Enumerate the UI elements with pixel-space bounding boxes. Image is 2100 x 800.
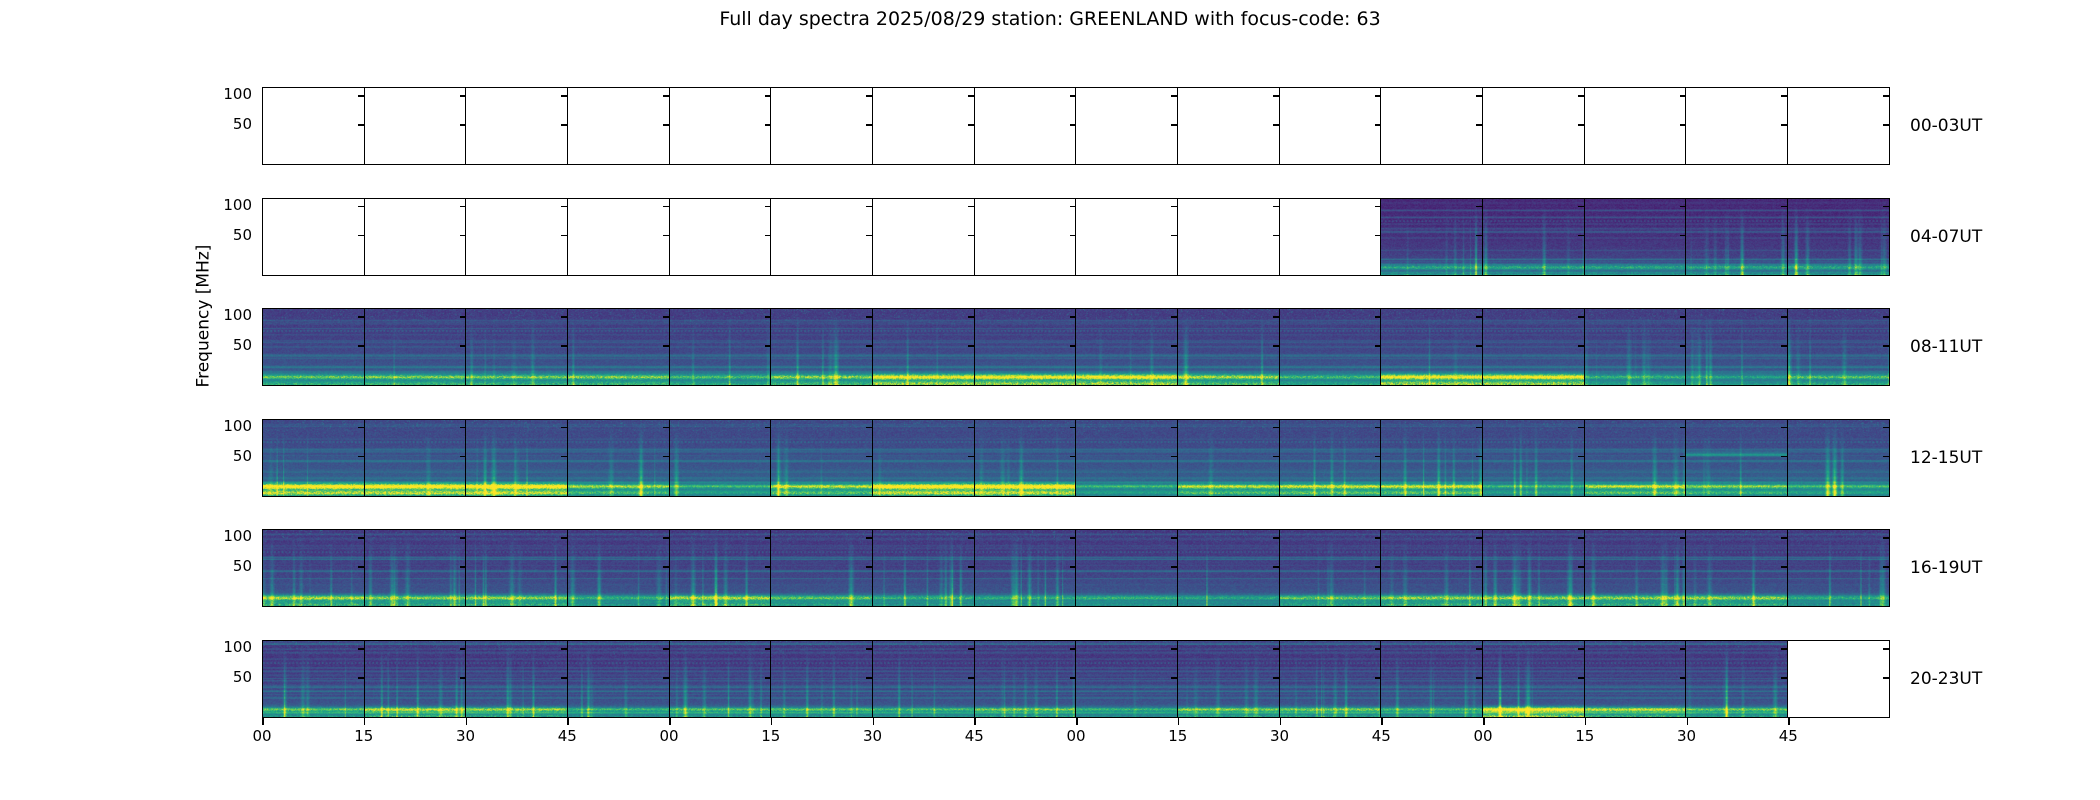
spectrogram-panel[interactable]: [1482, 308, 1585, 386]
spectrogram-panel[interactable]: [770, 198, 873, 276]
spectrogram-panel[interactable]: [1279, 419, 1382, 497]
spectrogram-image: [1381, 309, 1482, 385]
spectrogram-image: [1076, 530, 1177, 606]
y-tick-mark: [1883, 456, 1890, 458]
row-time-label: 04-07UT: [1910, 227, 1982, 247]
spectrogram-panel[interactable]: [465, 198, 568, 276]
spectrogram-panel[interactable]: [262, 198, 365, 276]
spectrogram-image: [1585, 530, 1686, 606]
spectrogram-panel[interactable]: [465, 87, 568, 165]
spectrogram-panel[interactable]: [364, 308, 467, 386]
y-tick-mark: [262, 235, 263, 237]
spectrogram-panel[interactable]: [1787, 640, 1890, 718]
spectrogram-panel[interactable]: [1482, 529, 1585, 607]
spectrogram-panel[interactable]: [669, 419, 772, 497]
spectrogram-panel[interactable]: [1584, 640, 1687, 718]
y-tick-mark: [1883, 206, 1890, 208]
y-tick-label: 100: [223, 527, 252, 545]
spectrogram-image: [1483, 199, 1584, 275]
x-tick-mark: [364, 718, 366, 725]
y-tick-mark: [262, 677, 263, 679]
spectrogram-panel[interactable]: [364, 529, 467, 607]
spectrogram-panel[interactable]: [974, 308, 1077, 386]
spectrogram-image: [1381, 199, 1482, 275]
x-tick-mark: [974, 718, 976, 725]
spectrogram-panel[interactable]: [567, 419, 670, 497]
spectrogram-image: [568, 641, 669, 717]
spectrogram-image: [1585, 420, 1686, 496]
y-tick-mark: [1883, 566, 1890, 568]
spectrogram-panel[interactable]: [1482, 640, 1585, 718]
spectrogram-panel[interactable]: [1380, 640, 1483, 718]
spectrogram-image: [1178, 641, 1279, 717]
x-tick-mark: [1178, 718, 1180, 725]
y-tick-labels: 10050: [192, 308, 252, 386]
spectrogram-image: [1483, 641, 1584, 717]
spectrogram-panel[interactable]: [669, 198, 772, 276]
spectrogram-panel[interactable]: [364, 198, 467, 276]
spectrogram-panel[interactable]: [262, 308, 365, 386]
spectrogram-panel[interactable]: [1075, 419, 1178, 497]
y-tick-mark: [262, 427, 263, 429]
spectrogram-row: [262, 198, 1890, 276]
spectrogram-image: [1483, 420, 1584, 496]
y-tick-mark: [1883, 537, 1890, 539]
spectrogram-panel[interactable]: [465, 529, 568, 607]
spectrogram-panel[interactable]: [1482, 198, 1585, 276]
x-tick-mark: [1585, 718, 1587, 725]
spectrogram-image: [1483, 530, 1584, 606]
row-time-label: 08-11UT: [1910, 337, 1982, 357]
spectrogram-panel[interactable]: [1685, 87, 1788, 165]
spectrogram-panel[interactable]: [1075, 198, 1178, 276]
spectrogram-panel[interactable]: [1177, 87, 1280, 165]
spectrogram-image: [873, 309, 974, 385]
y-tick-labels: 10050: [192, 640, 252, 718]
y-tick-label: 50: [233, 668, 252, 686]
spectrogram-panel[interactable]: [1380, 419, 1483, 497]
spectrogram-panel[interactable]: [262, 87, 365, 165]
spectrogram-panel[interactable]: [567, 198, 670, 276]
spectrogram-image: [1076, 420, 1177, 496]
spectrogram-image: [263, 530, 364, 606]
spectrogram-panel[interactable]: [262, 529, 365, 607]
spectrogram-panel[interactable]: [1584, 87, 1687, 165]
spectrogram-image: [1381, 530, 1482, 606]
y-tick-mark: [262, 345, 263, 347]
spectrogram-panel[interactable]: [872, 308, 975, 386]
spectrogram-panel[interactable]: [567, 87, 670, 165]
spectrogram-image: [1483, 309, 1584, 385]
spectrogram-image: [1585, 199, 1686, 275]
x-tick-mark: [1280, 718, 1282, 725]
x-tick-label: 15: [1575, 727, 1594, 745]
spectrogram-panel[interactable]: [364, 87, 467, 165]
spectrogram-panel[interactable]: [1584, 529, 1687, 607]
spectrogram-panel[interactable]: [974, 640, 1077, 718]
spectrogram-panel[interactable]: [872, 87, 975, 165]
x-tick-label: 15: [354, 727, 373, 745]
y-tick-labels: 10050: [192, 529, 252, 607]
y-tick-mark: [262, 566, 263, 568]
spectrogram-panel[interactable]: [1685, 640, 1788, 718]
spectrogram-panel[interactable]: [465, 640, 568, 718]
spectrogram-row: [262, 640, 1890, 718]
y-tick-mark: [1883, 124, 1890, 126]
spectrogram-image: [1381, 420, 1482, 496]
spectrogram-panel[interactable]: [262, 419, 365, 497]
y-tick-labels: 10050: [192, 87, 252, 165]
y-tick-label: 50: [233, 226, 252, 244]
spectrogram-image: [771, 309, 872, 385]
x-tick-label: 45: [558, 727, 577, 745]
spectrogram-panel[interactable]: [567, 640, 670, 718]
spectrogram-image: [670, 641, 771, 717]
x-tick-label: 45: [1372, 727, 1391, 745]
spectrogram-panel[interactable]: [1177, 198, 1280, 276]
spectrogram-panel[interactable]: [1380, 308, 1483, 386]
spectrogram-image: [1076, 641, 1177, 717]
spectrogram-image: [365, 641, 466, 717]
y-tick-mark: [262, 316, 263, 318]
spectrogram-image: [873, 641, 974, 717]
spectrogram-image: [568, 309, 669, 385]
spectrogram-image: [466, 420, 567, 496]
spectrogram-panel[interactable]: [1482, 87, 1585, 165]
spectrogram-image: [670, 309, 771, 385]
spectrogram-image: [1686, 420, 1787, 496]
x-tick-label: 00: [659, 727, 678, 745]
x-tick-label: 15: [1168, 727, 1187, 745]
spectrogram-panel[interactable]: [1380, 198, 1483, 276]
spectrogram-image: [1585, 309, 1686, 385]
spectrogram-panel[interactable]: [1584, 198, 1687, 276]
x-axis: 00153045001530450015304500153045: [262, 718, 1890, 758]
y-tick-label: 50: [233, 447, 252, 465]
spectrogram-panel[interactable]: [1787, 87, 1890, 165]
y-tick-mark: [1883, 677, 1890, 679]
x-tick-mark: [669, 718, 671, 725]
spectrogram-panel[interactable]: [465, 308, 568, 386]
spectrogram-panel[interactable]: [364, 640, 467, 718]
spectrogram-image: [365, 420, 466, 496]
spectrogram-panel[interactable]: [1787, 529, 1890, 607]
spectrogram-panel[interactable]: [1787, 308, 1890, 386]
y-tick-label: 100: [223, 196, 252, 214]
row-time-label: 16-19UT: [1910, 558, 1982, 578]
spectrogram-panel[interactable]: [1177, 529, 1280, 607]
spectrogram-image: [365, 530, 466, 606]
spectrogram-panel[interactable]: [1279, 308, 1382, 386]
spectrogram-image: [1788, 199, 1889, 275]
spectrogram-panel[interactable]: [1279, 529, 1382, 607]
x-tick-mark: [466, 718, 468, 725]
x-tick-mark: [873, 718, 875, 725]
x-tick-mark: [262, 718, 264, 725]
row-time-label: 12-15UT: [1910, 448, 1982, 468]
spectrogram-image: [1585, 641, 1686, 717]
spectrogram-image: [1686, 199, 1787, 275]
y-tick-labels: 10050: [192, 198, 252, 276]
spectrogram-image: [365, 309, 466, 385]
spectrogram-panel[interactable]: [1075, 640, 1178, 718]
spectrogram-image: [1381, 641, 1482, 717]
spectrogram-panel[interactable]: [770, 529, 873, 607]
x-tick-label: 30: [456, 727, 475, 745]
spectrogram-panel[interactable]: [1075, 87, 1178, 165]
spectrogram-panel[interactable]: [465, 419, 568, 497]
y-tick-mark: [262, 95, 263, 97]
spectrogram-panel[interactable]: [770, 640, 873, 718]
x-tick-mark: [1381, 718, 1383, 725]
y-tick-label: 50: [233, 336, 252, 354]
spectrogram-image: [1686, 309, 1787, 385]
x-tick-mark: [1483, 718, 1485, 725]
spectrogram-image: [873, 530, 974, 606]
spectrogram-panel[interactable]: [974, 529, 1077, 607]
spectrogram-image: [1788, 309, 1889, 385]
page-title: Full day spectra 2025/08/29 station: GRE…: [0, 8, 2100, 30]
spectrogram-image: [568, 530, 669, 606]
spectrogram-image: [1178, 530, 1279, 606]
spectrogram-image: [1280, 641, 1381, 717]
spectrogram-panel[interactable]: [1685, 308, 1788, 386]
spectrogram-panel[interactable]: [669, 529, 772, 607]
spectrogram-panel[interactable]: [872, 529, 975, 607]
spectrogram-image: [1280, 309, 1381, 385]
spectrogram-panel[interactable]: [1685, 419, 1788, 497]
y-tick-mark: [1883, 235, 1890, 237]
spectrogram-panel[interactable]: [1177, 419, 1280, 497]
spectrogram-panel[interactable]: [1279, 198, 1382, 276]
y-tick-label: 50: [233, 115, 252, 133]
spectrogram-panel[interactable]: [974, 198, 1077, 276]
spectrogram-image: [1178, 420, 1279, 496]
x-tick-label: 45: [1779, 727, 1798, 745]
y-tick-label: 100: [223, 417, 252, 435]
x-tick-label: 30: [1677, 727, 1696, 745]
spectrogram-panel[interactable]: [1279, 640, 1382, 718]
spectrogram-panel[interactable]: [669, 640, 772, 718]
y-tick-labels: 10050: [192, 419, 252, 497]
x-tick-mark: [567, 718, 569, 725]
spectrogram-image: [1788, 420, 1889, 496]
spectrogram-image: [771, 641, 872, 717]
y-tick-mark: [262, 537, 263, 539]
x-tick-label: 30: [863, 727, 882, 745]
spectrogram-panel[interactable]: [1279, 87, 1382, 165]
x-tick-label: 45: [965, 727, 984, 745]
spectrogram-image: [1076, 309, 1177, 385]
spectrogram-image: [670, 530, 771, 606]
y-tick-label: 100: [223, 85, 252, 103]
spectrogram-image: [975, 641, 1076, 717]
spectrogram-image: [466, 309, 567, 385]
spectrogram-image: [873, 420, 974, 496]
spectrogram-row: [262, 419, 1890, 497]
spectrogram-image: [771, 420, 872, 496]
y-tick-mark: [1883, 345, 1890, 347]
spectrogram-panel[interactable]: [872, 640, 975, 718]
spectrogram-image: [975, 309, 1076, 385]
y-tick-label: 100: [223, 638, 252, 656]
spectrogram-figure: Full day spectra 2025/08/29 station: GRE…: [0, 0, 2100, 800]
spectrogram-image: [771, 530, 872, 606]
x-tick-label: 15: [761, 727, 780, 745]
spectrogram-image: [1178, 309, 1279, 385]
spectrogram-panel[interactable]: [1075, 529, 1178, 607]
x-tick-mark: [1788, 718, 1790, 725]
spectrogram-panel[interactable]: [770, 87, 873, 165]
spectrogram-panel[interactable]: [872, 198, 975, 276]
y-tick-mark: [1883, 316, 1890, 318]
x-tick-label: 00: [1473, 727, 1492, 745]
spectrogram-panel[interactable]: [1177, 308, 1280, 386]
spectrogram-panel[interactable]: [1787, 419, 1890, 497]
spectrogram-panel[interactable]: [1380, 529, 1483, 607]
spectrogram-image: [466, 641, 567, 717]
spectrogram-panel[interactable]: [1787, 198, 1890, 276]
x-tick-label: 00: [252, 727, 271, 745]
spectrogram-panel[interactable]: [1482, 419, 1585, 497]
spectrogram-image: [263, 420, 364, 496]
spectrogram-image: [1686, 641, 1787, 717]
y-tick-mark: [262, 206, 263, 208]
spectrogram-image: [263, 641, 364, 717]
y-tick-mark: [262, 456, 263, 458]
y-tick-mark: [262, 648, 263, 650]
spectrogram-image: [263, 309, 364, 385]
spectrogram-panel[interactable]: [974, 87, 1077, 165]
y-tick-mark: [1883, 95, 1890, 97]
spectrogram-image: [568, 420, 669, 496]
spectrogram-image: [975, 530, 1076, 606]
plot-area: 00-03UT04-07UT08-11UT12-15UT16-19UT20-23…: [262, 87, 1890, 718]
x-tick-mark: [771, 718, 773, 725]
spectrogram-panel[interactable]: [669, 308, 772, 386]
spectrogram-row: [262, 308, 1890, 386]
x-tick-mark: [1687, 718, 1689, 725]
y-tick-mark: [1883, 648, 1890, 650]
spectrogram-panel[interactable]: [872, 419, 975, 497]
row-time-label: 00-03UT: [1910, 116, 1982, 136]
spectrogram-image: [670, 420, 771, 496]
spectrogram-image: [1280, 420, 1381, 496]
y-tick-label: 50: [233, 557, 252, 575]
spectrogram-panel[interactable]: [1380, 87, 1483, 165]
spectrogram-panel[interactable]: [1584, 419, 1687, 497]
spectrogram-panel[interactable]: [770, 419, 873, 497]
spectrogram-panel[interactable]: [1177, 640, 1280, 718]
spectrogram-row: [262, 87, 1890, 165]
spectrogram-panel[interactable]: [770, 308, 873, 386]
x-tick-label: 30: [1270, 727, 1289, 745]
spectrogram-image: [466, 530, 567, 606]
y-tick-label: 100: [223, 306, 252, 324]
spectrogram-panel[interactable]: [1075, 308, 1178, 386]
spectrogram-image: [975, 420, 1076, 496]
spectrogram-panel[interactable]: [1685, 529, 1788, 607]
x-tick-mark: [1076, 718, 1078, 725]
spectrogram-panel[interactable]: [1584, 308, 1687, 386]
spectrogram-panel[interactable]: [669, 87, 772, 165]
spectrogram-image: [1280, 530, 1381, 606]
x-tick-label: 00: [1066, 727, 1085, 745]
y-tick-mark: [262, 124, 263, 126]
spectrogram-panel[interactable]: [974, 419, 1077, 497]
spectrogram-image: [1686, 530, 1787, 606]
spectrogram-panel[interactable]: [567, 529, 670, 607]
spectrogram-panel[interactable]: [364, 419, 467, 497]
row-time-label: 20-23UT: [1910, 669, 1982, 689]
spectrogram-row: [262, 529, 1890, 607]
spectrogram-panel[interactable]: [262, 640, 365, 718]
spectrogram-panel[interactable]: [1685, 198, 1788, 276]
y-tick-mark: [1883, 427, 1890, 429]
spectrogram-image: [1788, 530, 1889, 606]
spectrogram-panel[interactable]: [567, 308, 670, 386]
